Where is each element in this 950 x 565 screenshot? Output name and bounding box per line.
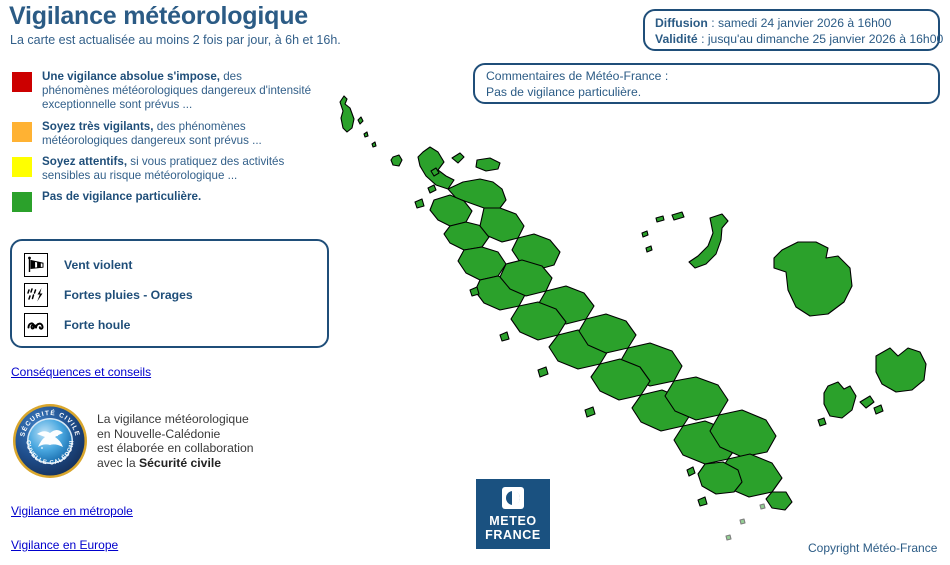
securite-line-4-prefix: avec la (97, 456, 139, 470)
comments-heading: Commentaires de Météo-France : (486, 68, 930, 84)
securite-civile-text: La vigilance météorologique en Nouvelle-… (97, 412, 254, 470)
map-zone-belep-islet-a[interactable] (358, 117, 363, 124)
bulletin-validity-box: Diffusion : samedi 24 janvier 2026 à 16h… (643, 9, 940, 51)
map-zone-islet-north-a[interactable] (452, 153, 464, 163)
page-subtitle: La carte est actualisée au moins 2 fois … (10, 33, 341, 47)
phenomenon-row-fortes-pluies-orages: Fortes pluies - Orages (24, 280, 327, 310)
swatch-jaune (12, 157, 32, 177)
vigilance-map-nouvelle-caledonie[interactable] (330, 90, 945, 560)
map-svg[interactable] (330, 90, 945, 560)
map-zone-islet-lifou-south[interactable] (874, 405, 883, 414)
swatch-rouge (12, 72, 32, 92)
legend-bold-vert: Pas de vigilance particulière. (42, 190, 201, 203)
map-zone-mare[interactable] (876, 348, 926, 392)
map-zone-belep[interactable] (340, 96, 354, 132)
page-title: Vigilance météorologique (9, 2, 308, 31)
map-zone-sud-tip[interactable] (766, 492, 792, 510)
securite-line-3: est élaborée en collaboration (97, 441, 254, 456)
map-zone-voh[interactable] (458, 247, 506, 280)
swell-wave-icon (24, 313, 48, 337)
phenomenon-row-vent-violent: Vent violent (24, 250, 327, 280)
securite-line-2: en Nouvelle-Calédonie (97, 427, 254, 442)
securite-line-4: avec la Sécurité civile (97, 456, 254, 471)
legend-text-jaune: Soyez attentifs, si vous pratiquez des a… (42, 155, 312, 183)
legend-bold-jaune: Soyez attentifs, (42, 155, 127, 168)
phenomenon-label-fortes-pluies-orages: Fortes pluies - Orages (64, 288, 193, 302)
legend-text-rouge: Une vigilance absolue s'impose, des phén… (42, 70, 312, 113)
map-zone-reef-dot-a[interactable] (760, 504, 765, 509)
phenomenon-label-vent-violent: Vent violent (64, 258, 132, 272)
securite-line-4-bold: Sécurité civile (139, 456, 221, 470)
legend-bold-orange: Soyez très vigilants, (42, 120, 153, 133)
validite-value: : jusqu'au dimanche 25 janvier 2026 à 16… (698, 32, 944, 46)
map-zone-belep-islet-b[interactable] (364, 132, 368, 137)
diffusion-value: : samedi 24 janvier 2026 à 16h00 (708, 16, 892, 30)
phenomenon-label-forte-houle: Forte houle (64, 318, 130, 332)
diffusion-label: Diffusion (655, 16, 708, 30)
map-zone-coast-islet-c[interactable] (470, 287, 479, 296)
map-zone-reef-dot-b[interactable] (740, 519, 745, 524)
legend-text-vert: Pas de vigilance particulière. (42, 190, 201, 204)
map-zone-ile-des-pins[interactable] (824, 382, 856, 418)
copyright-text: Copyright Météo-France (808, 541, 937, 555)
swatch-vert (12, 192, 32, 212)
map-zone-ile-balabio[interactable] (476, 158, 500, 171)
validite-label: Validité (655, 32, 698, 46)
legend-item-rouge: Une vigilance absolue s'impose, des phén… (12, 70, 332, 113)
map-zone-coast-islet-e[interactable] (538, 367, 548, 377)
meteo-france-word-1: METEO (489, 514, 536, 528)
link-vigilance-metropole[interactable]: Vigilance en métropole (11, 504, 133, 518)
map-zone-reef-dot-c[interactable] (726, 535, 731, 540)
map-zone-ouvea[interactable] (689, 214, 728, 268)
validite-line: Validité : jusqu'au dimanche 25 janvier … (655, 31, 930, 47)
map-zone-ile-yande[interactable] (391, 155, 402, 166)
map-zone-coast-islet-f[interactable] (585, 407, 595, 417)
legend-item-orange: Soyez très vigilants, des phénomènes mét… (12, 120, 332, 148)
map-zone-ouvea-reef-c[interactable] (642, 231, 648, 237)
legend-item-vert: Pas de vigilance particulière. (12, 190, 332, 212)
map-zone-lifou[interactable] (774, 242, 852, 316)
diffusion-line: Diffusion : samedi 24 janvier 2026 à 16h… (655, 15, 930, 31)
map-zone-coast-islet-b[interactable] (415, 199, 424, 208)
map-zone-tiga[interactable] (860, 396, 874, 408)
map-zone-ile-des-pins-islet[interactable] (818, 418, 826, 426)
map-zone-ouvea-reef-d[interactable] (646, 246, 652, 252)
windsock-icon (24, 253, 48, 277)
securite-line-1: La vigilance météorologique (97, 412, 254, 427)
map-zone-islet-sw-a[interactable] (687, 467, 695, 476)
map-zone-coast-islet-d[interactable] (500, 332, 509, 341)
map-zone-ouvea-reef-a[interactable] (672, 212, 684, 220)
vigilance-color-legend: Une vigilance absolue s'impose, des phén… (12, 70, 332, 219)
swatch-orange (12, 122, 32, 142)
phenomena-legend-box: Vent violent Fortes pluies - Orages (10, 239, 329, 348)
securite-civile-logo: SÉCURITÉ CIVILE NOUVELLE-CALÉDONIE (11, 402, 89, 480)
meteo-france-mark-icon (502, 487, 524, 509)
rain-storm-icon (24, 283, 48, 307)
map-zone-belep-islet-c[interactable] (372, 142, 376, 147)
map-zone-islet-sw-b[interactable] (698, 497, 707, 506)
meteo-france-word-2: FRANCE (485, 528, 541, 542)
map-zone-coast-islet-a[interactable] (428, 185, 436, 193)
map-zone-ouvea-reef-b[interactable] (656, 216, 664, 222)
link-vigilance-europe[interactable]: Vigilance en Europe (11, 538, 118, 552)
meteo-france-logo: METEO FRANCE (476, 479, 550, 549)
link-consequences-et-conseils[interactable]: Conséquences et conseils (11, 365, 151, 379)
securite-civile-block: SÉCURITÉ CIVILE NOUVELLE-CALÉDONIE La vi… (11, 402, 301, 480)
legend-text-orange: Soyez très vigilants, des phénomènes mét… (42, 120, 312, 148)
legend-bold-rouge: Une vigilance absolue s'impose, (42, 70, 220, 83)
legend-item-jaune: Soyez attentifs, si vous pratiquez des a… (12, 155, 332, 183)
phenomenon-row-forte-houle: Forte houle (24, 310, 327, 340)
